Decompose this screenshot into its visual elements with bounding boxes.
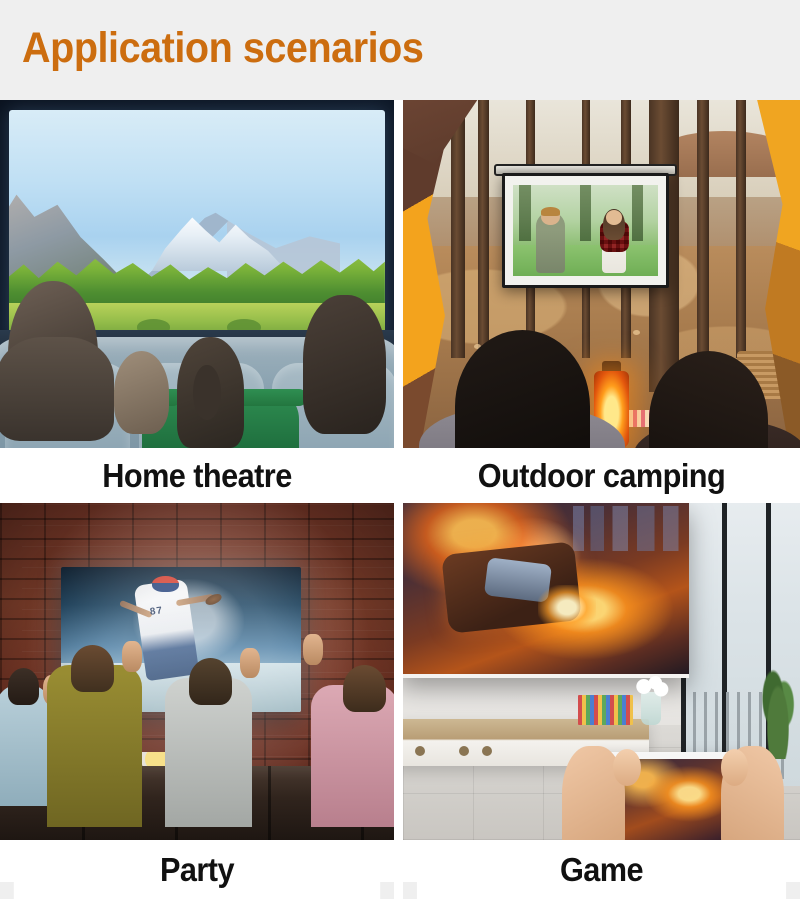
scenario-label-home-theatre: Home theatre (14, 448, 380, 503)
raised-hand (303, 634, 323, 664)
screen-game-explosion (538, 585, 596, 630)
viewer-child-head (114, 351, 169, 435)
viewer-woman-hair (0, 337, 114, 441)
column-gap (394, 503, 403, 840)
application-scenarios-page: Application scenarios (0, 0, 800, 899)
balcony-plant (760, 658, 796, 759)
viewer-girl-ponytail (193, 365, 221, 421)
column-gap (394, 448, 403, 503)
video-young-woman-face (606, 210, 622, 225)
video-tree (580, 185, 592, 242)
home-theatre-scene (0, 100, 394, 448)
party-guest-1-head (8, 668, 40, 705)
scenario-label-outdoor-camping: Outdoor camping (417, 448, 786, 503)
outdoor-camping-scene (403, 100, 800, 448)
column-gap (394, 840, 403, 899)
raised-hand (240, 648, 260, 678)
column-gap (394, 100, 403, 448)
console-knob (459, 746, 469, 756)
scenario-image-home-theatre[interactable] (0, 100, 394, 448)
viewer-arm-right (236, 389, 307, 406)
party-guest-4-head (343, 665, 386, 712)
screen-game-skyline (573, 506, 683, 551)
viewer-man-head (303, 295, 386, 434)
party-guest-2-head (71, 645, 114, 692)
party-guest-3-head (189, 658, 232, 705)
tree-trunk (478, 100, 488, 358)
scenario-label-game: Game (417, 840, 786, 899)
video-lawn (513, 245, 658, 276)
scenario-label-party: Party (14, 840, 380, 899)
raised-hand (122, 641, 142, 671)
page-title: Application scenarios (22, 22, 423, 74)
outdoor-projection-screen (502, 173, 669, 288)
console-knob (415, 746, 425, 756)
scenario-image-outdoor-camping[interactable] (403, 100, 800, 448)
tree-trunk (451, 100, 465, 358)
game-projection-screen (403, 503, 689, 678)
video-tree (519, 185, 531, 242)
white-flowers (633, 675, 669, 699)
scenario-image-game[interactable] (403, 503, 800, 840)
tree-trunk (697, 100, 709, 358)
scenario-image-party[interactable]: 87 (0, 503, 394, 840)
decorative-books (578, 695, 634, 725)
tree-trunk (736, 100, 746, 358)
video-tree (632, 185, 644, 242)
game-scene (403, 503, 800, 840)
party-scene: 87 (0, 503, 394, 840)
screen-video-content (513, 185, 658, 276)
scenario-grid: Home theatre Outdoor camping 87 (0, 100, 800, 882)
video-young-man-hair (541, 207, 560, 216)
